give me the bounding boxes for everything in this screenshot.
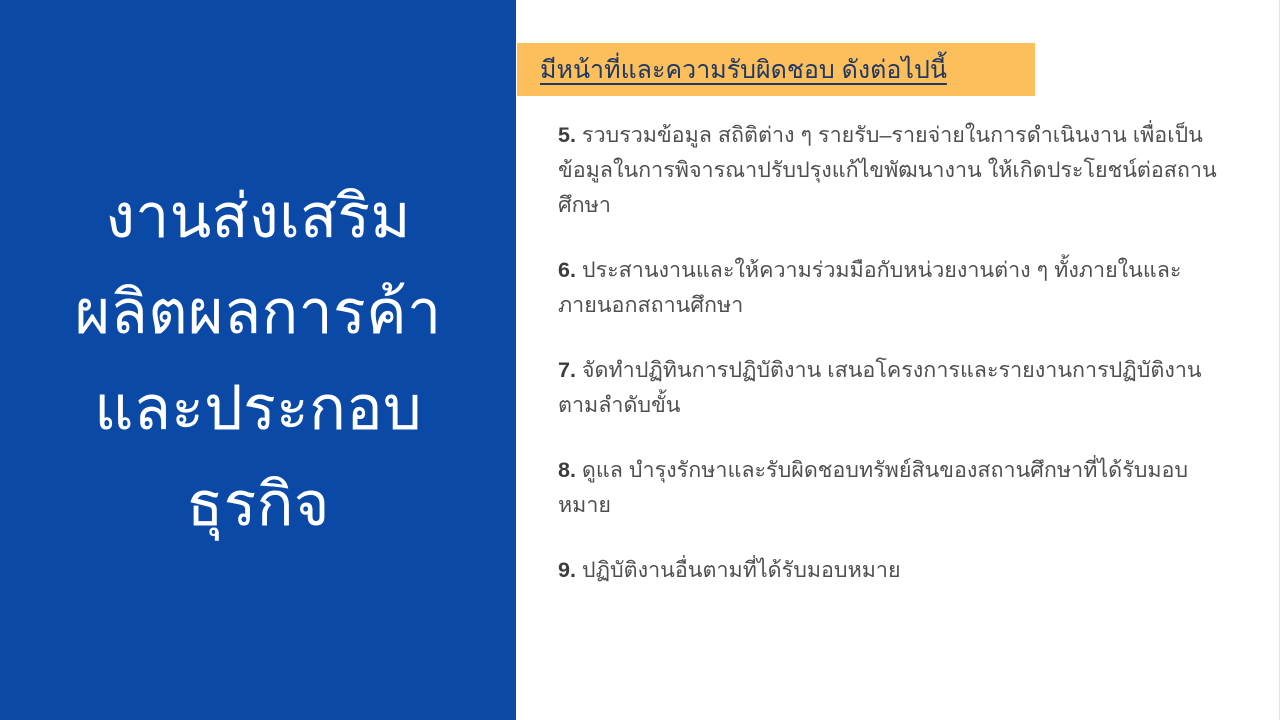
list-item-text: ดูแล บำรุงรักษาและรับผิดชอบทรัพย์สินของส… [558,458,1188,517]
section-heading-text: มีหน้าที่และความรับผิดชอบ ดังต่อไปนี้ [540,55,947,85]
list-item-number: 8. [558,458,576,482]
list-item-number: 7. [558,358,576,382]
list-item-number: 5. [558,123,576,147]
title-panel: งานส่งเสริม ผลิตผลการค้า และประกอบธุรกิจ [0,0,516,720]
list-item: 8. ดูแล บำรุงรักษาและรับผิดชอบทรัพย์สินข… [558,453,1226,523]
section-heading-band: มีหน้าที่และความรับผิดชอบ ดังต่อไปนี้ [517,43,1035,96]
responsibilities-list: 5. รวบรวมข้อมูล สถิติต่าง ๆ รายรับ–รายจ่… [558,118,1226,588]
list-item-text: จัดทำปฏิทินการปฏิบัติงาน เสนอโครงการและร… [558,358,1202,417]
slide-canvas: งานส่งเสริม ผลิตผลการค้า และประกอบธุรกิจ… [0,0,1280,720]
list-item: 9. ปฏิบัติงานอื่นตามที่ได้รับมอบหมาย [558,553,1226,588]
list-item-text: รวบรวมข้อมูล สถิติต่าง ๆ รายรับ–รายจ่ายใ… [558,123,1217,217]
list-item: 6. ประสานงานและให้ความร่วมมือกับหน่วยงาน… [558,253,1226,323]
content-panel: มีหน้าที่และความรับผิดชอบ ดังต่อไปนี้ 5.… [516,0,1280,720]
list-item: 7. จัดทำปฏิทินการปฏิบัติงาน เสนอโครงการแ… [558,353,1226,423]
list-item: 5. รวบรวมข้อมูล สถิติต่าง ๆ รายรับ–รายจ่… [558,118,1226,223]
slide-title: งานส่งเสริม ผลิตผลการค้า และประกอบธุรกิจ [24,168,492,552]
list-item-number: 9. [558,558,576,582]
list-item-number: 6. [558,258,576,282]
list-item-text: ประสานงานและให้ความร่วมมือกับหน่วยงานต่า… [558,258,1181,317]
list-item-text: ปฏิบัติงานอื่นตามที่ได้รับมอบหมาย [582,558,901,582]
